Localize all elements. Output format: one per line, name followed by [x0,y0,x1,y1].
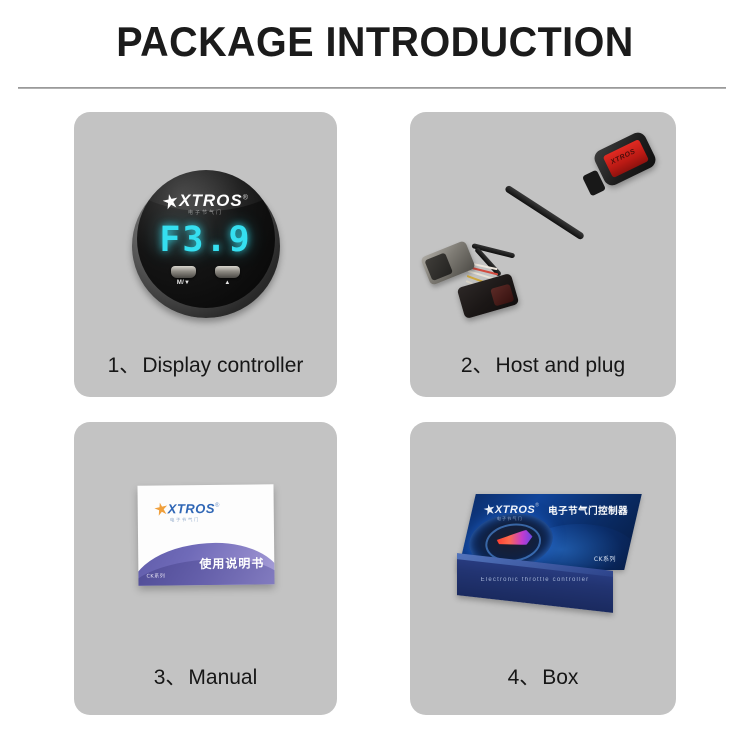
panel-1-caption: 1、Display controller [74,349,337,379]
box-brand-name: XTROS [495,504,535,516]
package-item-panel-2: XTROS 2、Host and plug [410,112,676,397]
box-front-text: Electronic throttle controller [457,577,613,583]
controller-button-group: M/▼ ▲ [137,266,275,286]
panel-4-number: 4、 [508,666,541,689]
manual-title-chinese: 使用说明书 [199,554,264,572]
panel-2-label: Host and plug [496,354,626,377]
manual-brand-subtext: 电子节气门 [169,518,219,523]
manual-series-code: CK系列 [146,572,165,579]
panel-4-caption: 4、Box [410,661,676,691]
package-item-panel-1: XTROS® 电子节气门 F3.9 M/▼ ▲ 1、Display contr [74,112,337,397]
panel-3-number: 3、 [154,666,187,689]
star-icon [153,501,169,517]
host-cable [504,185,585,241]
page-title: PACKAGE INTRODUCTION [23,18,728,66]
host-module-logo: XTROS [610,148,637,166]
controller-led-readout: F3.9 [137,220,275,260]
manual-brand-name: XTROS [167,501,214,516]
controller-up-button-label: ▲ [215,280,240,286]
product-box: XTROS® 电子节气门 电子节气门控制器 CK系列 Electronic th… [457,494,633,614]
controller-face: XTROS® 电子节气门 F3.9 M/▼ ▲ [137,170,275,308]
box-title-chinese: 电子节气门控制器 [548,503,628,517]
manual-brand-logo: XTROS® 电子节气门 [154,501,219,523]
gauge-needle-icon [496,529,534,549]
title-divider [18,87,726,89]
controller-mode-button[interactable]: M/▼ [171,266,196,286]
panel-1-label: Display controller [142,354,303,377]
package-item-panel-3: XTROS® 电子节气门 使用说明书 CK系列 3、Manual [74,422,337,715]
controller-up-button[interactable]: ▲ [215,266,240,286]
gray-connector [420,240,476,286]
controller-brand-logo: XTROS® 电子节气门 [137,192,275,216]
panel-3-caption: 3、Manual [74,661,337,691]
trademark-icon: ® [214,503,218,509]
box-brand-logo: XTROS® 电子节气门 [484,501,539,521]
box-series-code: CK系列 [594,554,616,563]
panel-2-caption: 2、Host and plug [410,349,676,379]
button-cap [215,266,240,278]
trademark-icon: ® [535,503,539,509]
manual-booklet: XTROS® 电子节气门 使用说明书 CK系列 [137,484,274,585]
controller-brand-name: XTROS [179,191,243,210]
controller-brand-subtext: 电子节气门 [137,211,275,216]
controller-mode-button-label: M/▼ [171,280,196,286]
display-controller-device: XTROS® 电子节气门 F3.9 M/▼ ▲ [132,170,280,318]
box-brand-subtext: 电子节气门 [497,517,539,521]
trademark-icon: ® [243,195,248,202]
panel-2-number: 2、 [461,354,494,377]
star-icon [162,193,180,211]
panel-4-label: Box [542,666,578,689]
button-cap [171,266,196,278]
panel-1-number: 1、 [108,354,141,377]
package-item-panel-4: XTROS® 电子节气门 电子节气门控制器 CK系列 Electronic th… [410,422,676,715]
panel-3-label: Manual [188,666,257,689]
